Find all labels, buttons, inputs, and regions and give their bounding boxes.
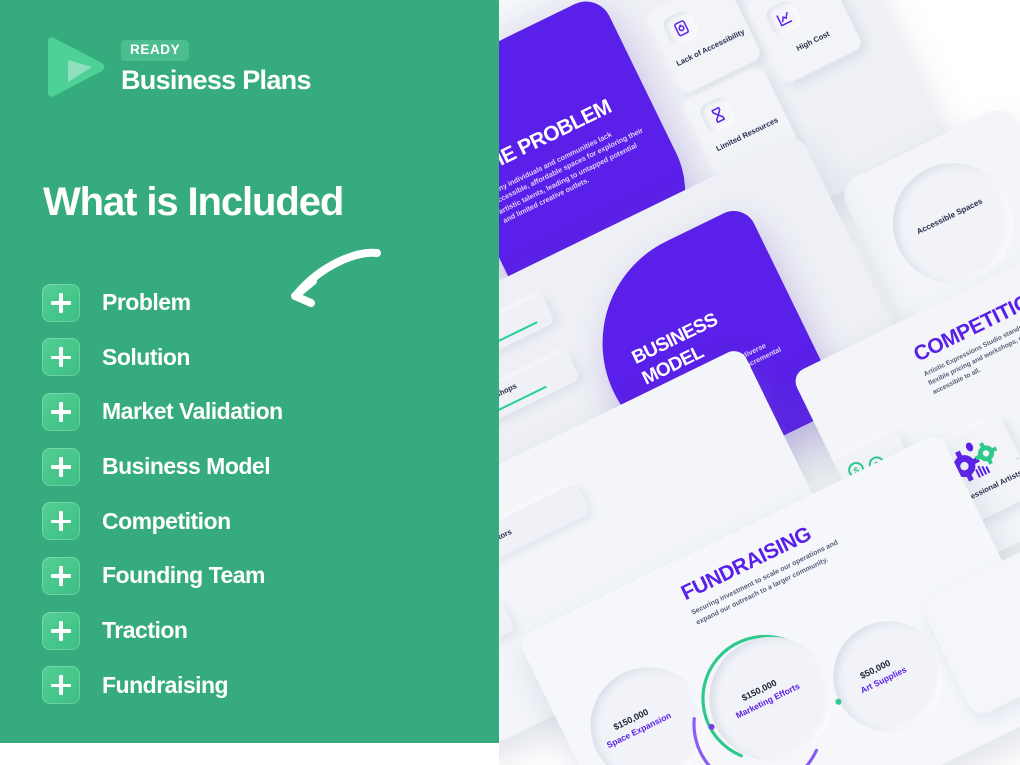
- included-list: Problem Solution Market Validation Busin…: [42, 283, 462, 721]
- included-item-founding-team[interactable]: Founding Team: [42, 556, 462, 595]
- deck-plane: THE PROBLEM Many individuals and communi…: [499, 0, 1020, 765]
- plus-icon: [42, 448, 80, 486]
- included-item-label: Competition: [102, 508, 231, 535]
- brand-title: Business Plans: [121, 66, 311, 94]
- plus-icon: [42, 284, 80, 322]
- hourglass-icon: [697, 95, 737, 135]
- chart-up-icon: [764, 0, 804, 38]
- deck-preview-area: THE PROBLEM Many individuals and communi…: [499, 0, 1020, 765]
- left-info-panel: READY Business Plans What is Included Pr…: [0, 0, 499, 743]
- plus-icon: [42, 393, 80, 431]
- included-item-label: Market Validation: [102, 398, 283, 425]
- plus-icon: [42, 557, 80, 595]
- traction-row-workshops-held[interactable]: Workshops Held: [499, 599, 516, 686]
- included-item-problem[interactable]: Problem: [42, 283, 462, 322]
- included-item-fundraising[interactable]: Fundraising: [42, 666, 462, 705]
- tile-high-cost[interactable]: High Cost: [749, 0, 864, 85]
- traction-row-label: Monthly Visitors: [499, 527, 513, 561]
- included-item-solution[interactable]: Solution: [42, 338, 462, 377]
- lock-document-icon: [661, 8, 701, 48]
- play-triangle-icon: [46, 36, 106, 98]
- included-item-label: Solution: [102, 344, 190, 371]
- included-item-label: Founding Team: [102, 562, 265, 589]
- plus-icon: [42, 338, 80, 376]
- slide-preview-canvas: THE PROBLEM Many individuals and communi…: [0, 0, 1020, 765]
- included-item-label: Traction: [102, 617, 187, 644]
- included-item-label: Business Model: [102, 453, 270, 480]
- ready-badge: READY: [121, 40, 189, 61]
- brand-logo-row: READY Business Plans: [46, 36, 311, 98]
- included-item-competition[interactable]: Competition: [42, 502, 462, 541]
- plus-icon: [42, 502, 80, 540]
- included-item-label: Fundraising: [102, 672, 228, 699]
- included-item-market-validation[interactable]: Market Validation: [42, 392, 462, 431]
- included-item-business-model[interactable]: Business Model: [42, 447, 462, 486]
- page-title: What is Included: [43, 182, 343, 222]
- plus-icon: [42, 612, 80, 650]
- included-item-label: Problem: [102, 289, 191, 316]
- plus-icon: [42, 666, 80, 704]
- traction-row-monthly-visitors[interactable]: Monthly Visitors: [499, 483, 590, 578]
- included-item-traction[interactable]: Traction: [42, 611, 462, 650]
- brand-text-block: READY Business Plans: [121, 40, 311, 94]
